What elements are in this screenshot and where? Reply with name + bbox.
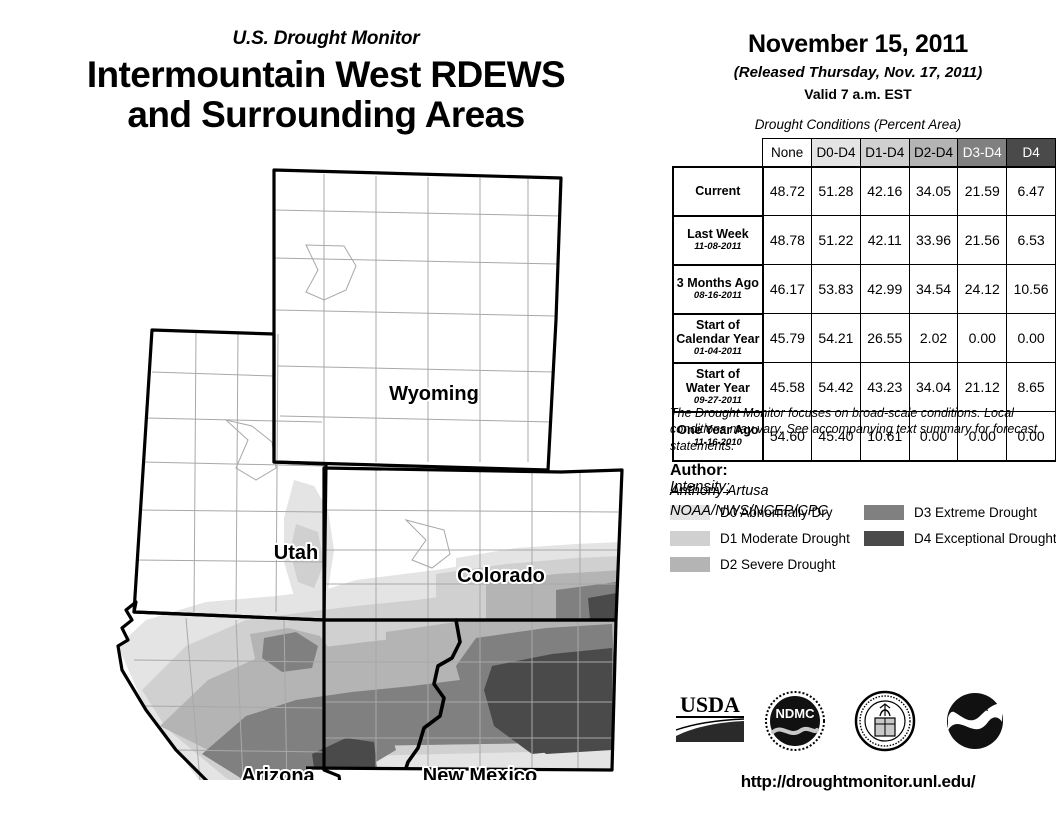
legend-item-d1: D1 Moderate Drought: [670, 527, 850, 551]
row-title-l2: Water Year: [686, 381, 750, 395]
usda-logo-text: USDA: [680, 692, 740, 717]
program-name: U.S. Drought Monitor: [0, 28, 652, 50]
row-date: 01-04-2011: [674, 347, 762, 358]
row-label-3-months-ago: 3 Months Ago 08-16-2011: [673, 265, 763, 314]
drought-monitor-page: U.S. Drought Monitor Intermountain West …: [0, 0, 1056, 816]
table-header-row: None D0-D4 D1-D4 D2-D4 D3-D4 D4: [673, 139, 1056, 167]
report-released: (Released Thursday, Nov. 17, 2011): [660, 64, 1056, 81]
website-url[interactable]: http://droughtmonitor.unl.edu/: [660, 772, 1056, 792]
cell-3mo-d3d4: 24.12: [958, 265, 1007, 314]
report-valid-time: Valid 7 a.m. EST: [660, 86, 1056, 102]
col-header-d3d4: D3-D4: [958, 139, 1007, 167]
cell-lastweek-none: 48.78: [763, 216, 812, 265]
cell-lastweek-d4: 6.53: [1007, 216, 1056, 265]
state-label-colorado: Colorado: [457, 565, 545, 587]
noaa-logo[interactable]: NOAA: [940, 690, 1010, 752]
row-title-l1: Start of: [696, 367, 740, 381]
right-panel: November 15, 2011 (Released Thursday, No…: [660, 0, 1056, 816]
author-name: Anthony Artusa: [670, 483, 769, 499]
table-row[interactable]: 3 Months Ago 08-16-2011 46.17 53.83 42.9…: [673, 265, 1056, 314]
row-label-last-week: Last Week 11-08-2011: [673, 216, 763, 265]
cell-current-d3d4: 21.59: [958, 167, 1007, 216]
title-block: U.S. Drought Monitor Intermountain West …: [0, 28, 652, 135]
cell-cy-d1d4: 26.55: [860, 314, 909, 363]
ndmc-logo[interactable]: NDMC: [760, 690, 830, 752]
legend-item-d3: D3 Extreme Drought: [864, 501, 1056, 525]
table-row[interactable]: Last Week 11-08-2011 48.78 51.22 42.11 3…: [673, 216, 1056, 265]
legend-item-d4: D4 Exceptional Drought: [864, 527, 1056, 551]
cell-lastweek-d1d4: 42.11: [860, 216, 909, 265]
col-header-none: None: [763, 139, 812, 167]
cell-lastweek-d2d4: 33.96: [909, 216, 958, 265]
drought-map[interactable]: Wyoming Utah Colorado Arizona New Mexico: [56, 150, 656, 780]
legend-label-d1: D1 Moderate Drought: [720, 531, 850, 546]
col-header-d4: D4: [1007, 139, 1056, 167]
cell-cy-d2d4: 2.02: [909, 314, 958, 363]
header-spacer: [673, 139, 763, 167]
col-header-d2d4: D2-D4: [909, 139, 958, 167]
noaa-logo-text: NOAA: [962, 703, 989, 713]
page-title: Intermountain West RDEWS and Surrounding…: [0, 55, 652, 135]
cell-3mo-none: 46.17: [763, 265, 812, 314]
legend-item-d2: D2 Severe Drought: [670, 553, 850, 577]
cell-3mo-d1d4: 42.99: [860, 265, 909, 314]
cell-cy-d3d4: 0.00: [958, 314, 1007, 363]
legend-swatch-d4-icon: [864, 531, 904, 546]
cell-current-d0d4: 51.28: [812, 167, 861, 216]
legend-swatch-d2-icon: [670, 557, 710, 572]
cell-3mo-d2d4: 34.54: [909, 265, 958, 314]
row-label-current: Current: [673, 167, 763, 216]
state-label-new-mexico: New Mexico: [423, 765, 537, 780]
row-date: 11-08-2011: [674, 242, 762, 253]
author-heading: Author:: [670, 462, 728, 480]
cell-cy-d0d4: 54.21: [812, 314, 861, 363]
col-header-d0d4: D0-D4: [812, 139, 861, 167]
map-svg: Wyoming Utah Colorado Arizona New Mexico: [56, 150, 656, 780]
legend-column-right: D3 Extreme Drought D4 Exceptional Drough…: [864, 501, 1056, 553]
state-label-arizona: Arizona: [241, 765, 315, 780]
cell-3mo-d4: 10.56: [1007, 265, 1056, 314]
page-title-line2: and Surrounding Areas: [0, 95, 652, 135]
table-row[interactable]: Start of Calendar Year 01-04-2011 45.79 …: [673, 314, 1056, 363]
row-title: Last Week: [687, 227, 749, 241]
cell-lastweek-d3d4: 21.56: [958, 216, 1007, 265]
legend-label-d3: D3 Extreme Drought: [914, 505, 1037, 520]
report-date: November 15, 2011: [660, 30, 1056, 59]
row-date: 08-16-2011: [674, 291, 762, 302]
legend-label-d4: D4 Exceptional Drought: [914, 531, 1056, 546]
cell-cy-none: 45.79: [763, 314, 812, 363]
row-label-start-calendar-year: Start of Calendar Year 01-04-2011: [673, 314, 763, 363]
cell-cy-d4: 0.00: [1007, 314, 1056, 363]
contour-d4-nm-far-se: [524, 702, 612, 754]
cell-current-d1d4: 42.16: [860, 167, 909, 216]
legend-label-d2: D2 Severe Drought: [720, 557, 836, 572]
row-title-l2: Calendar Year: [676, 332, 759, 346]
col-header-d1d4: D1-D4: [860, 139, 909, 167]
logo-row: USDA NDMC: [660, 690, 1056, 760]
table-row[interactable]: Current 48.72 51.28 42.16 34.05 21.59 6.…: [673, 167, 1056, 216]
cell-current-none: 48.72: [763, 167, 812, 216]
table-head: None D0-D4 D1-D4 D2-D4 D3-D4 D4: [673, 139, 1056, 167]
disclaimer-text: The Drought Monitor focuses on broad-sca…: [670, 405, 1040, 454]
author-org: NOAA/NWS/NCEP/CPC: [670, 503, 828, 519]
cell-current-d2d4: 34.05: [909, 167, 958, 216]
usda-seal-logo[interactable]: [850, 690, 920, 752]
cell-3mo-d0d4: 53.83: [812, 265, 861, 314]
legend-swatch-d3-icon: [864, 505, 904, 520]
row-title: Current: [695, 184, 740, 198]
cell-current-d4: 6.47: [1007, 167, 1056, 216]
cell-lastweek-d0d4: 51.22: [812, 216, 861, 265]
state-label-utah: Utah: [274, 542, 318, 564]
page-title-line1: Intermountain West RDEWS: [87, 54, 565, 95]
row-title: 3 Months Ago: [677, 276, 759, 290]
row-title-l1: Start of: [696, 318, 740, 332]
legend-swatch-d1-icon: [670, 531, 710, 546]
state-label-wyoming: Wyoming: [389, 383, 479, 405]
table-caption: Drought Conditions (Percent Area): [660, 117, 1056, 132]
usda-logo[interactable]: USDA: [670, 690, 750, 746]
ndmc-logo-text: NDMC: [776, 706, 816, 721]
